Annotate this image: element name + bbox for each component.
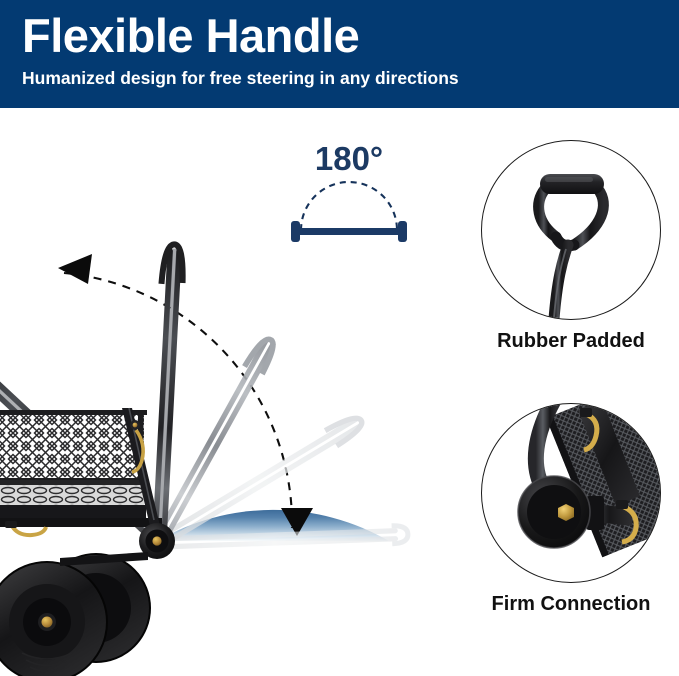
cart-bed [0,480,147,520]
page-subtitle: Humanized design for free steering in an… [22,66,679,90]
callout-rubber-padded-label: Rubber Padded [471,330,671,353]
cart-body [0,408,175,676]
d-handle-icon [482,141,660,319]
angle-annotation: 180° [279,140,419,245]
callout-firm-connection: Firm Connection [471,403,671,616]
callout-rubber-padded: Rubber Padded [471,140,671,353]
mesh-side-panel [0,410,147,483]
cart-frame-rail [0,518,162,527]
page-title: Flexible Handle [22,8,679,64]
callout-firm-connection-label: Firm Connection [471,593,671,616]
angle-diagram-icon [279,180,419,242]
header-banner: Flexible Handle Humanized design for fre… [0,0,679,108]
rotation-arrow-left-icon [58,254,92,284]
pivot-joint-icon [482,404,660,582]
product-infographic: Flexible Handle Humanized design for fre… [0,0,679,676]
callout-firm-connection-image [481,403,661,583]
angle-value-label: 180° [279,140,419,178]
pivot-disc [518,476,590,548]
callout-rubber-padded-image [481,140,661,320]
